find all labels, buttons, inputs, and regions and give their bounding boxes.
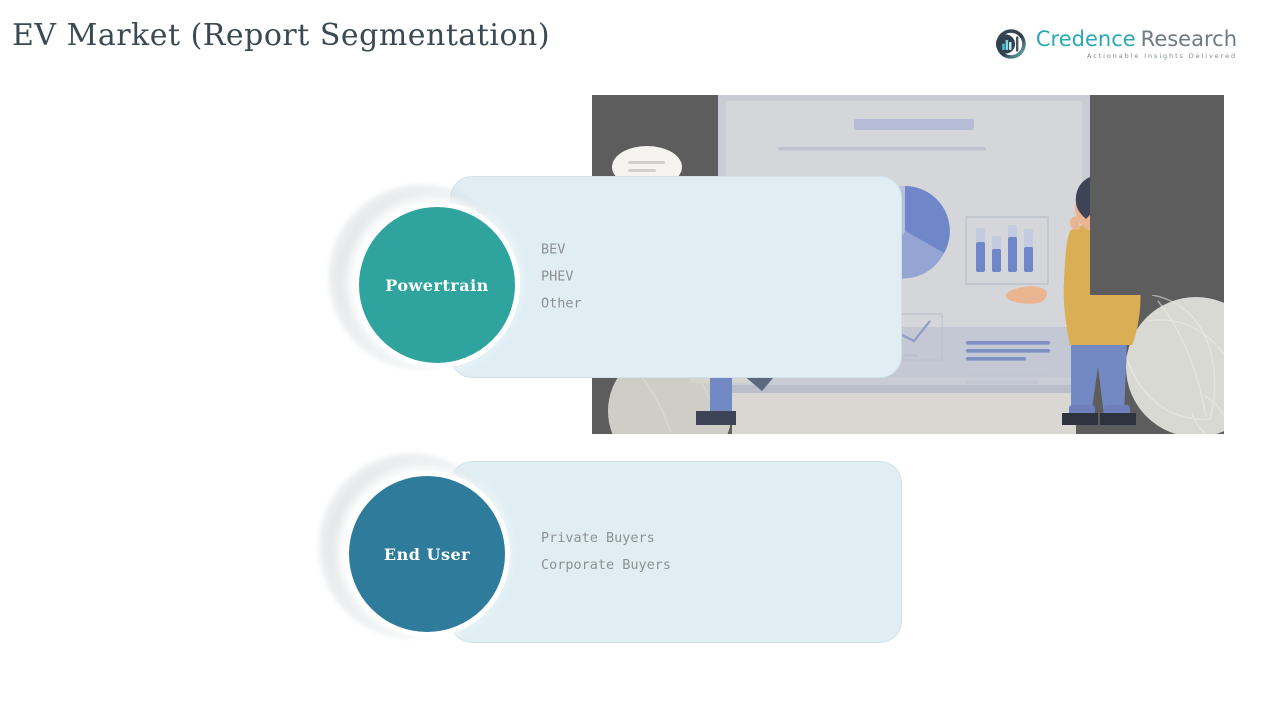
list-item: BEV [541, 237, 582, 264]
brand-logo: CredenceResearch Actionable Insights Del… [994, 27, 1237, 61]
list-item: Other [541, 291, 582, 318]
segment-label-powertrain: Powertrain [385, 276, 489, 295]
list-item: PHEV [541, 264, 582, 291]
segment-row-powertrain: BEV PHEV Other Powertrain [320, 176, 920, 386]
segment-circle-powertrain[interactable]: Powertrain [328, 184, 528, 384]
segment-items-end-user: Private Buyers Corporate Buyers [541, 525, 671, 579]
brand-tagline: Actionable Insights Delivered [1036, 53, 1237, 60]
brand-wordmark: CredenceResearch [1036, 27, 1237, 51]
brand-word-research: Research [1141, 27, 1237, 51]
brand-word-credence: Credence [1036, 27, 1136, 51]
circle-body-powertrain[interactable]: Powertrain [354, 202, 520, 368]
credence-logo-icon [994, 27, 1028, 61]
circle-body-end-user[interactable]: End User [344, 471, 510, 637]
segment-items-powertrain: BEV PHEV Other [541, 237, 582, 318]
brand-logo-text: CredenceResearch Actionable Insights Del… [1036, 29, 1237, 60]
segment-label-end-user: End User [384, 545, 470, 564]
segment-row-end-user: Private Buyers Corporate Buyers End User [310, 461, 910, 661]
segment-circle-end-user[interactable]: End User [318, 453, 518, 653]
page-title: EV Market (Report Segmentation) [12, 18, 550, 53]
list-item: Private Buyers [541, 525, 671, 552]
list-item: Corporate Buyers [541, 552, 671, 579]
